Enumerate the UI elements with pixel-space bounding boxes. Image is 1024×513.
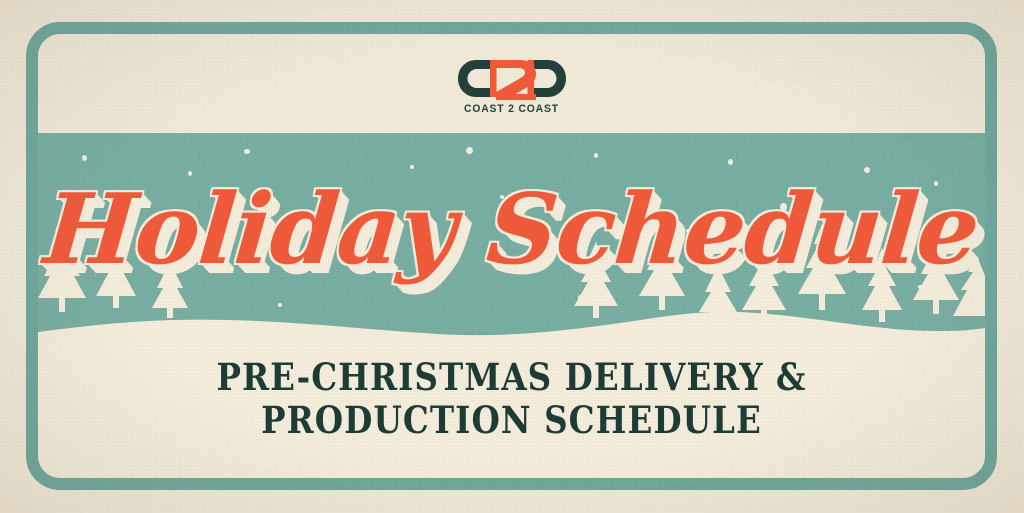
- decorative-frame-border: [26, 22, 997, 490]
- holiday-schedule-banner: Holiday Schedule PRE-CHRISTMAS DELIVERY …: [0, 0, 1024, 513]
